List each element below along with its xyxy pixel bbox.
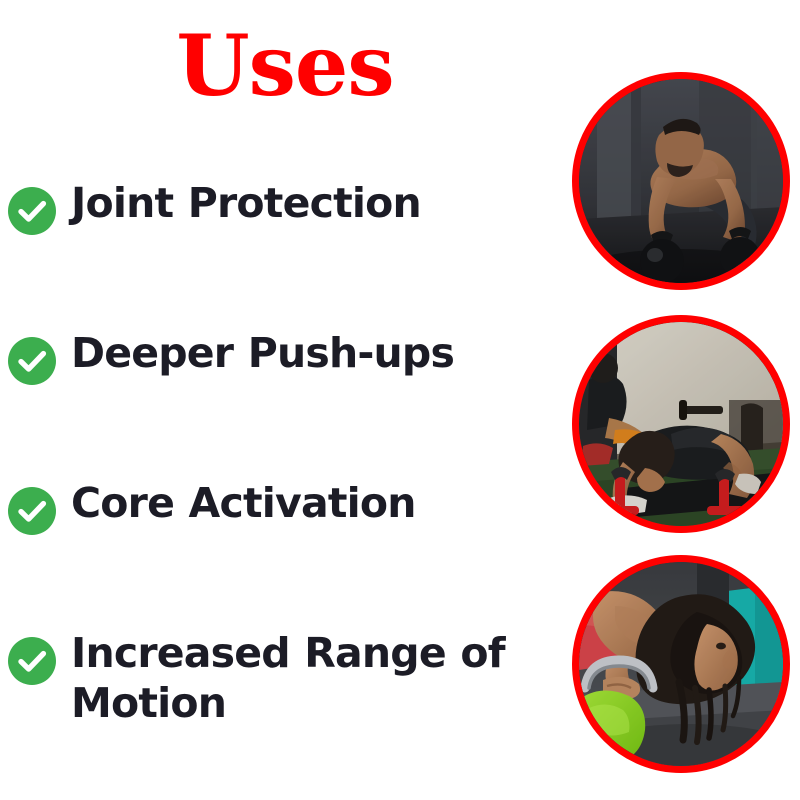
benefit-label: Joint Protection bbox=[71, 178, 421, 228]
benefits-list: Joint Protection Deeper Push-ups Core Ac… bbox=[8, 178, 548, 778]
page-title: Uses bbox=[0, 24, 570, 108]
green-check-circle-icon bbox=[8, 487, 56, 535]
photo-image bbox=[579, 322, 783, 526]
benefit-label: Core Activation bbox=[71, 478, 416, 528]
benefit-label: Deeper Push-ups bbox=[71, 328, 454, 378]
list-item: Core Activation bbox=[8, 478, 548, 628]
green-check-circle-icon bbox=[8, 187, 56, 235]
list-item: Deeper Push-ups bbox=[8, 328, 548, 478]
photo-woman-pushup-green-kettlebell bbox=[572, 555, 790, 773]
photo-image bbox=[579, 79, 783, 283]
list-item: Increased Range of Motion bbox=[8, 628, 548, 778]
list-item: Joint Protection bbox=[8, 178, 548, 328]
benefit-label: Increased Range of Motion bbox=[71, 628, 526, 728]
green-check-circle-icon bbox=[8, 637, 56, 685]
photo-man-pushup-bars-turf bbox=[572, 315, 790, 533]
green-check-circle-icon bbox=[8, 337, 56, 385]
photo-column bbox=[570, 0, 800, 800]
photo-man-pushup-kettlebells bbox=[572, 72, 790, 290]
photo-image bbox=[579, 562, 783, 766]
